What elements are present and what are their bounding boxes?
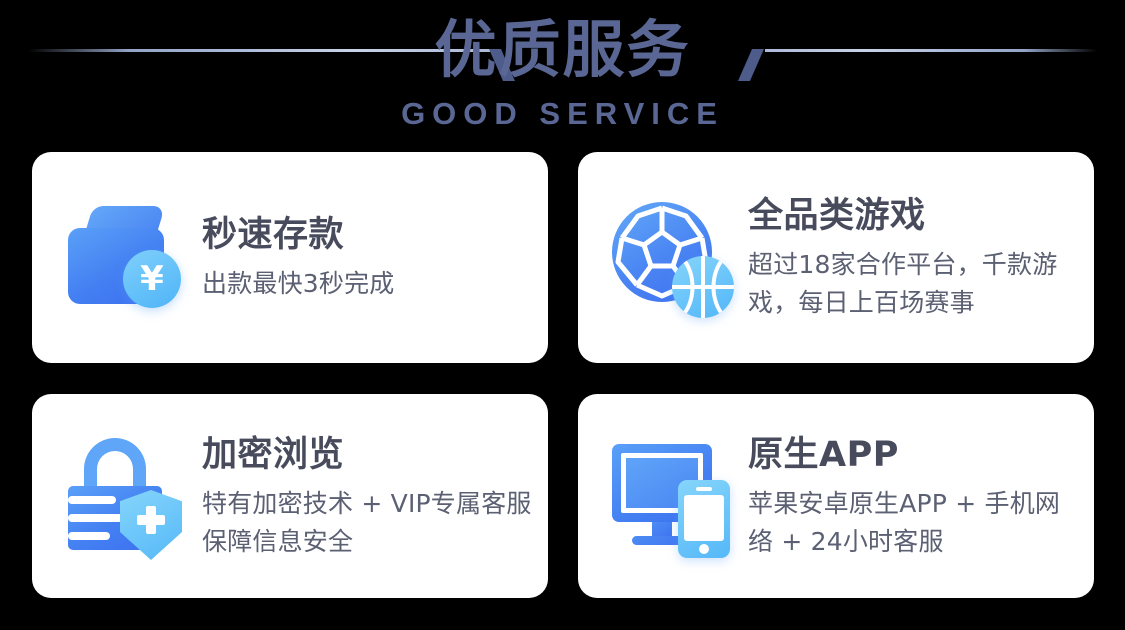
lock-slot-icon	[68, 496, 116, 504]
page-title: 优质服务	[0, 10, 1125, 90]
feature-card-deposit[interactable]: ¥ 秒速存款 出款最快3秒完成	[32, 152, 548, 363]
card-text-deposit: 秒速存款 出款最快3秒完成	[202, 212, 409, 303]
card-title: 全品类游戏	[748, 193, 1078, 239]
promo-banner: 优质服务 GOOD SERVICE ¥ 秒速存款 出款最快3秒完成	[0, 0, 1125, 630]
feature-card-games[interactable]: 全品类游戏 超过18家合作平台，千款游戏，每日上百场赛事	[578, 152, 1094, 363]
yen-coin-icon: ¥	[123, 250, 181, 308]
phone-icon	[678, 480, 730, 558]
page-subtitle: GOOD SERVICE	[0, 96, 1125, 132]
yen-symbol: ¥	[140, 262, 164, 296]
card-text-native-app: 原生APP 苹果安卓原生APP + 手机网络 + 24小时客服	[748, 432, 1092, 561]
lock-slot-icon	[68, 514, 128, 522]
feature-card-grid: ¥ 秒速存款 出款最快3秒完成	[32, 152, 1094, 598]
phone-home-button-icon	[699, 544, 709, 554]
card-text-games: 全品类游戏 超过18家合作平台，千款游戏，每日上百场赛事	[748, 193, 1092, 322]
lock-shield-icon	[62, 430, 194, 562]
card-desc: 出款最快3秒完成	[202, 265, 395, 303]
card-title: 秒速存款	[202, 212, 395, 258]
basketball-icon	[672, 256, 734, 318]
phone-speaker-icon	[696, 487, 712, 491]
soccer-basketball-icon	[608, 192, 740, 324]
card-desc: 特有加密技术 + VIP专属客服保障信息安全	[202, 485, 532, 561]
card-text-encryption: 加密浏览 特有加密技术 + VIP专属客服保障信息安全	[202, 432, 546, 561]
card-desc: 苹果安卓原生APP + 手机网络 + 24小时客服	[748, 485, 1078, 561]
phone-screen-icon	[684, 495, 724, 541]
feature-card-encryption[interactable]: 加密浏览 特有加密技术 + VIP专属客服保障信息安全	[32, 394, 548, 598]
card-title: 原生APP	[748, 432, 1078, 478]
banner-header: 优质服务 GOOD SERVICE	[0, 0, 1125, 150]
card-title: 加密浏览	[202, 432, 532, 478]
lock-slot-icon	[68, 532, 110, 540]
cross-icon	[137, 506, 165, 534]
monitor-phone-icon	[608, 430, 740, 562]
wallet-yen-icon: ¥	[62, 192, 194, 324]
feature-card-native-app[interactable]: 原生APP 苹果安卓原生APP + 手机网络 + 24小时客服	[578, 394, 1094, 598]
card-desc: 超过18家合作平台，千款游戏，每日上百场赛事	[748, 246, 1078, 322]
